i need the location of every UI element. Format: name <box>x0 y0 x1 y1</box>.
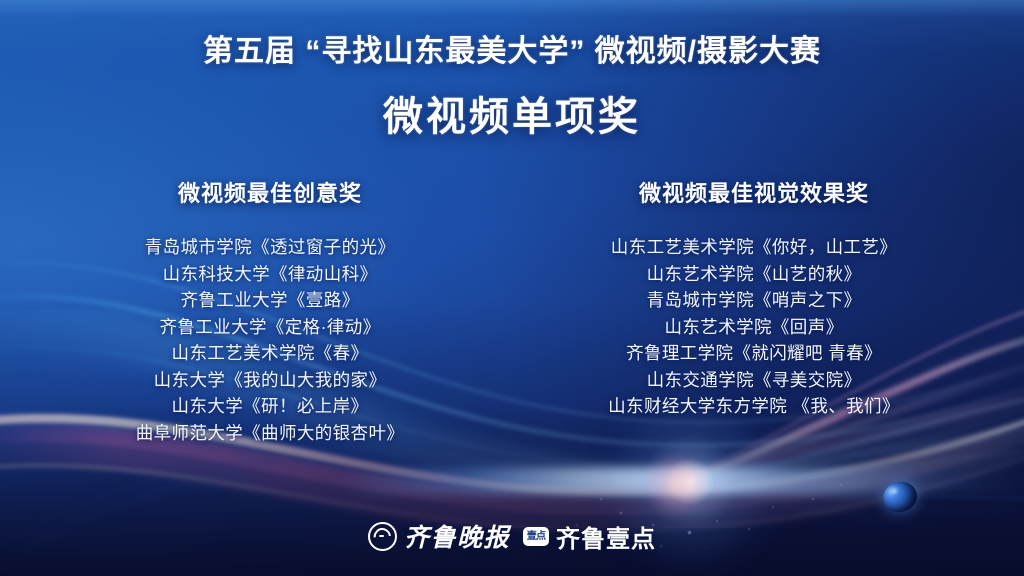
list-item: 山东艺术学院《山艺的秋》 <box>524 261 984 288</box>
list-item: 山东财经大学东方学院 《我、我们》 <box>524 393 984 420</box>
brand-qilu-evening-news: 齐鲁晚报 <box>368 518 510 554</box>
list-item: 青岛城市学院《透过窗子的光》 <box>40 234 500 261</box>
brand-secondary-label: 齐鲁壹点 <box>556 519 656 554</box>
yidian-badge-icon: 壹点 <box>523 527 549 546</box>
list-item: 齐鲁工业大学《定格·律动》 <box>40 314 500 341</box>
list-item: 山东艺术学院《回声》 <box>524 314 984 341</box>
yidian-badge-label: 壹点 <box>527 531 545 541</box>
list-item: 山东科技大学《律动山科》 <box>40 261 500 288</box>
list-item: 齐鲁工业大学《壹路》 <box>40 287 500 314</box>
page-title: 第五届 “寻找山东最美大学” 微视频/摄影大赛 <box>0 26 1024 70</box>
award-column-creativity: 微视频最佳创意奖 青岛城市学院《透过窗子的光》 山东科技大学《律动山科》 齐鲁工… <box>40 176 500 446</box>
winner-list-creativity: 青岛城市学院《透过窗子的光》 山东科技大学《律动山科》 齐鲁工业大学《壹路》 齐… <box>40 234 500 446</box>
brand-qilu-yidian: 壹点 齐鲁壹点 <box>523 519 656 554</box>
list-item: 曲阜师范大学《曲师大的银杏叶》 <box>40 420 500 447</box>
list-item: 山东交通学院《寻美交院》 <box>524 367 984 394</box>
list-item: 青岛城市学院《哨声之下》 <box>524 287 984 314</box>
page-subtitle: 微视频单项奖 <box>0 84 1024 142</box>
swirl-icon <box>368 522 397 551</box>
poster-content: 第五届 “寻找山东最美大学” 微视频/摄影大赛 微视频单项奖 微视频最佳创意奖 … <box>0 0 1024 576</box>
column-heading-visual-effects: 微视频最佳视觉效果奖 <box>524 176 984 208</box>
award-column-visual-effects: 微视频最佳视觉效果奖 山东工艺美术学院《你好，山工艺》 山东艺术学院《山艺的秋》… <box>524 176 984 446</box>
footer-brand-bar: 齐鲁晚报 壹点 齐鲁壹点 <box>0 518 1024 554</box>
winner-list-visual-effects: 山东工艺美术学院《你好，山工艺》 山东艺术学院《山艺的秋》 青岛城市学院《哨声之… <box>524 234 984 420</box>
award-columns: 微视频最佳创意奖 青岛城市学院《透过窗子的光》 山东科技大学《律动山科》 齐鲁工… <box>40 176 984 446</box>
list-item: 山东大学《我的山大我的家》 <box>40 367 500 394</box>
list-item: 山东工艺美术学院《春》 <box>40 340 500 367</box>
list-item: 山东大学《研！必上岸》 <box>40 393 500 420</box>
column-heading-creativity: 微视频最佳创意奖 <box>40 176 500 208</box>
list-item: 齐鲁理工学院《就闪耀吧 青春》 <box>524 340 984 367</box>
brand-primary-label: 齐鲁晚报 <box>404 518 510 554</box>
list-item: 山东工艺美术学院《你好，山工艺》 <box>524 234 984 261</box>
poster-canvas: 第五届 “寻找山东最美大学” 微视频/摄影大赛 微视频单项奖 微视频最佳创意奖 … <box>0 0 1024 576</box>
